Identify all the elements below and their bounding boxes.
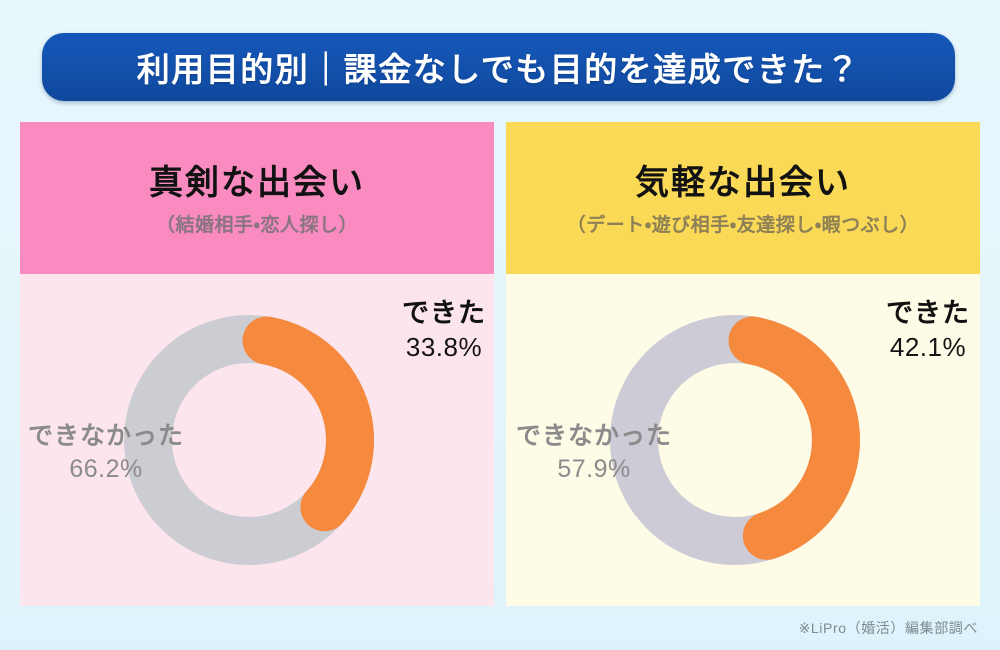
panel-serious: 真剣な出会い （結婚相手・恋人探し） できた 33.8% xyxy=(20,122,494,606)
donut-label-negative-casual-value: 57.9% xyxy=(516,455,672,484)
donut-label-positive-casual-value: 42.1% xyxy=(886,333,970,363)
panel-serious-title: 真剣な出会い xyxy=(149,165,365,202)
donut-chart-serious: できた 33.8% できなかった 66.2% xyxy=(20,274,494,606)
header-banner: 利用目的別｜課金なしでも目的を達成できた？ xyxy=(42,33,955,101)
donut-label-positive-casual: できた 42.1% xyxy=(886,298,970,363)
panel-casual: 気軽な出会い （デート・遊び相手・友達探し・暇つぶし） できた 42.1% xyxy=(506,122,980,606)
donut-label-positive-serious-value: 33.8% xyxy=(402,333,486,363)
panel-casual-subtitle: （デート・遊び相手・友達探し・暇つぶし） xyxy=(567,216,919,237)
donut-label-negative-casual-name: できなかった xyxy=(516,422,672,451)
infographic-root: 利用目的別｜課金なしでも目的を達成できた？ 真剣な出会い （結婚相手・恋人探し） xyxy=(0,0,1000,650)
panel-casual-header: 気軽な出会い （デート・遊び相手・友達探し・暇つぶし） xyxy=(506,122,980,274)
donut-label-negative-serious: できなかった 66.2% xyxy=(28,422,184,484)
panel-casual-body: できた 42.1% できなかった 57.9% xyxy=(506,274,980,606)
donut-label-negative-casual: できなかった 57.9% xyxy=(516,422,672,484)
donut-label-negative-serious-name: できなかった xyxy=(28,422,184,451)
panel-serious-subtitle: （結婚相手・恋人探し） xyxy=(156,216,358,237)
source-note: ※LiPro（婚活）編集部調べ xyxy=(799,618,978,638)
donut-label-positive-casual-name: できた xyxy=(886,298,970,329)
panel-casual-title: 気軽な出会い xyxy=(635,165,851,202)
donut-label-positive-serious-name: できた xyxy=(402,298,486,329)
donut-label-positive-serious: できた 33.8% xyxy=(402,298,486,363)
panel-serious-header: 真剣な出会い （結婚相手・恋人探し） xyxy=(20,122,494,274)
panel-serious-body: できた 33.8% できなかった 66.2% xyxy=(20,274,494,606)
donut-label-negative-serious-value: 66.2% xyxy=(28,455,184,484)
donut-chart-casual: できた 42.1% できなかった 57.9% xyxy=(506,274,980,606)
panel-container: 真剣な出会い （結婚相手・恋人探し） できた 33.8% xyxy=(20,122,980,606)
page-title: 利用目的別｜課金なしでも目的を達成できた？ xyxy=(137,43,861,91)
